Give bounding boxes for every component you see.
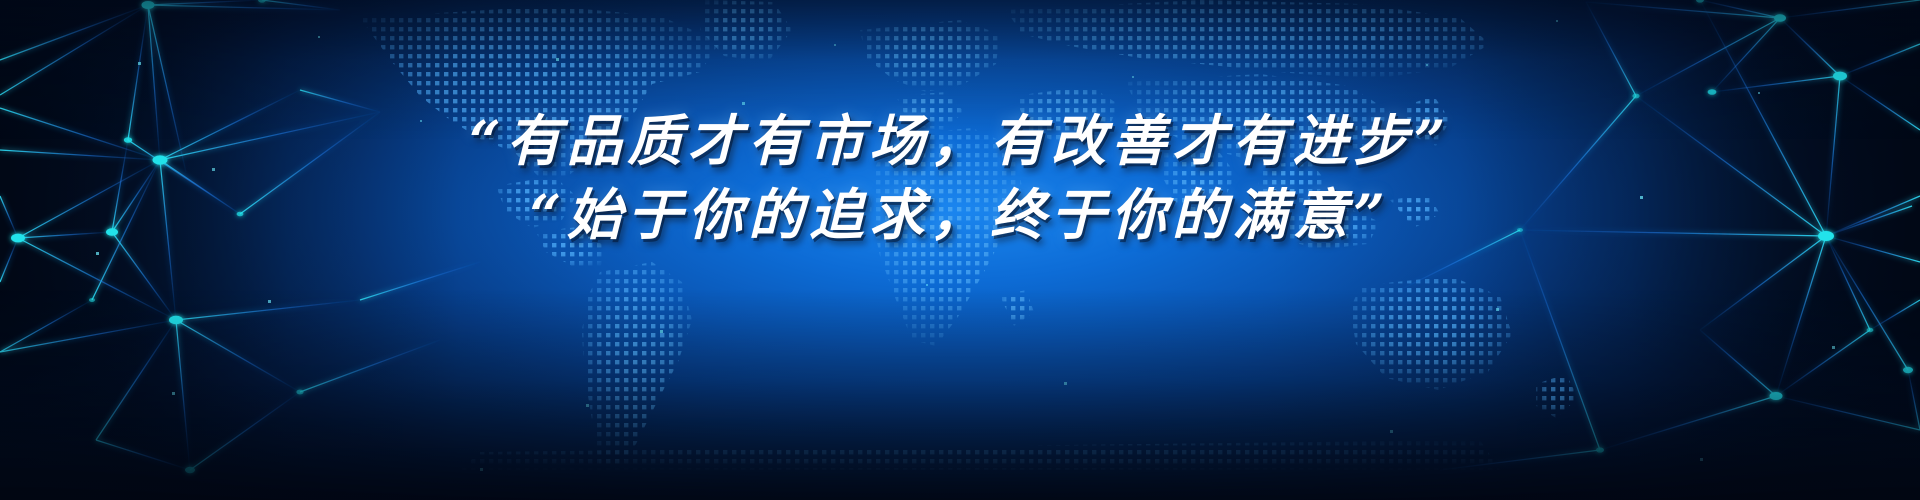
hero-banner: “有品质才有市场，有改善才有进步” “始于你的追求，终于你的满意” (0, 0, 1920, 500)
headline-line-1: “有品质才有市场，有改善才有进步” (0, 104, 1920, 178)
headline-line-2: “始于你的追求，终于你的满意” (0, 178, 1920, 252)
banner-headline: “有品质才有市场，有改善才有进步” “始于你的追求，终于你的满意” (0, 104, 1920, 252)
